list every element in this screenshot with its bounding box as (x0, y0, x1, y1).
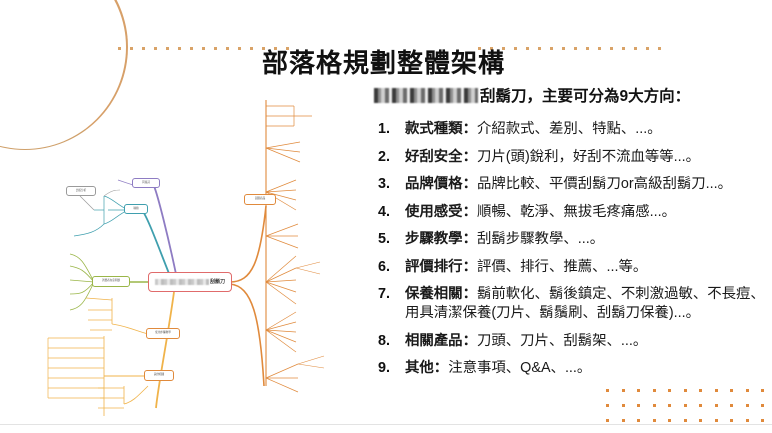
mindmap-node-label: 消費者在意問題 (102, 280, 120, 283)
item-label: 步驟教學 (405, 231, 463, 247)
item-label: 款式種類 (405, 121, 463, 137)
list-item: 5. 步驟教學：刮鬍步驟教學、...。 (356, 230, 766, 249)
list-item: 6. 評價排行：評價、排行、推薦、...等。 (356, 258, 766, 277)
mindmap-node-other[interactable]: 其他相關 (144, 370, 174, 381)
mindmap-node-label: 使用步驟教學 (155, 332, 171, 335)
item-separator: ： (463, 204, 477, 220)
bottom-divider (0, 424, 772, 425)
item-separator: ： (434, 360, 448, 376)
mindmap-node-label: 比較分析 (76, 190, 86, 193)
item-separator: ： (463, 231, 477, 247)
mindmap-node-label: 週邊商品 (255, 198, 265, 201)
mindmap-node-label: 同義詞 (142, 182, 150, 185)
mindmap-node-label: 其他相關 (154, 374, 164, 377)
mindmap-thumbnail[interactable]: 刮鬍刀 同義詞 種類 比較分析 消費者在意問題 使用步驟教學 其他相關 週邊商品 (8, 86, 352, 416)
item-body: 刀頭、刀片、刮鬍架、...。 (477, 333, 647, 349)
item-separator: ： (463, 286, 477, 302)
item-body: 刀片(頭)銳利，好刮不流血等等...。 (477, 149, 700, 165)
item-body: 注意事項、Q&A、...。 (448, 360, 591, 376)
item-body: 品牌比較、平價刮鬍刀or高級刮鬍刀...。 (477, 176, 732, 192)
mindmap-center-redacted (155, 279, 209, 285)
item-body: 評價、排行、推薦、...等。 (477, 259, 647, 275)
item-separator: ： (463, 333, 477, 349)
item-separator: ： (463, 259, 477, 275)
slide-canvas: 部落格規劃整體架構 (0, 0, 772, 433)
item-separator: ： (463, 176, 477, 192)
item-number: 7. (356, 285, 390, 304)
content-column: 刮鬍刀，主要可分為9大方向： 1. 款式種類：介紹款式、差別、特點、...。 2… (356, 84, 766, 387)
item-label: 好刮安全 (405, 149, 463, 165)
item-number: 6. (356, 258, 390, 277)
item-label: 其他 (405, 360, 434, 376)
item-number: 3. (356, 175, 390, 194)
item-number: 9. (356, 359, 390, 378)
item-separator: ： (463, 121, 477, 137)
mindmap-node-synonym[interactable]: 同義詞 (132, 178, 160, 188)
points-list: 1. 款式種類：介紹款式、差別、特點、...。 2. 好刮安全：刀片(頭)銳利，… (356, 120, 766, 378)
list-item: 3. 品牌價格：品牌比較、平價刮鬍刀or高級刮鬍刀...。 (356, 175, 766, 194)
item-label: 相關產品 (405, 333, 463, 349)
list-item: 2. 好刮安全：刀片(頭)銳利，好刮不流血等等...。 (356, 148, 766, 167)
item-body: 介紹款式、差別、特點、...。 (477, 121, 662, 137)
headline-suffix: 刮鬍刀，主要可分為9大方向： (480, 84, 690, 106)
mindmap-node-steps[interactable]: 使用步驟教學 (146, 328, 180, 339)
list-item: 8. 相關產品：刀頭、刀片、刮鬍架、...。 (356, 332, 766, 351)
mindmap-node-comparison[interactable]: 比較分析 (66, 186, 96, 196)
item-number: 8. (356, 332, 390, 351)
list-item: 1. 款式種類：介紹款式、差別、特點、...。 (356, 120, 766, 139)
mindmap-branches (8, 86, 352, 416)
mindmap-node-category[interactable]: 種類 (124, 204, 148, 214)
item-number: 2. (356, 148, 390, 167)
list-item: 7. 保養相關：鬍前軟化、鬍後鎮定、不刺激過敏、不長痘、用具清潔保養(刀片、鬍鬚… (356, 285, 766, 323)
item-number: 1. (356, 120, 390, 139)
mindmap-node-related-products[interactable]: 週邊商品 (244, 194, 276, 205)
decorative-dot-grid (606, 389, 772, 433)
item-body: 刮鬍步驟教學、...。 (477, 231, 604, 247)
item-separator: ： (463, 149, 477, 165)
mindmap-center-label: 刮鬍刀 (210, 280, 225, 285)
page-title: 部落格規劃整體架構 (262, 43, 505, 80)
headline: 刮鬍刀，主要可分為9大方向： (374, 84, 766, 106)
item-label: 品牌價格 (405, 176, 463, 192)
item-number: 5. (356, 230, 390, 249)
item-number: 4. (356, 203, 390, 222)
item-label: 使用感受 (405, 204, 463, 220)
mindmap-node-label: 種類 (133, 208, 138, 211)
list-item: 9. 其他：注意事項、Q&A、...。 (356, 359, 766, 378)
item-body: 順暢、乾淨、無拔毛疼痛感...。 (477, 204, 676, 220)
mindmap-center-node[interactable]: 刮鬍刀 (148, 272, 232, 292)
list-item: 4. 使用感受：順暢、乾淨、無拔毛疼痛感...。 (356, 203, 766, 222)
redacted-brand-name (374, 88, 478, 103)
dotted-line-right (478, 47, 661, 50)
item-label: 評價排行 (405, 259, 463, 275)
item-label: 保養相關 (405, 286, 463, 302)
mindmap-node-consumer-concerns[interactable]: 消費者在意問題 (92, 276, 130, 287)
